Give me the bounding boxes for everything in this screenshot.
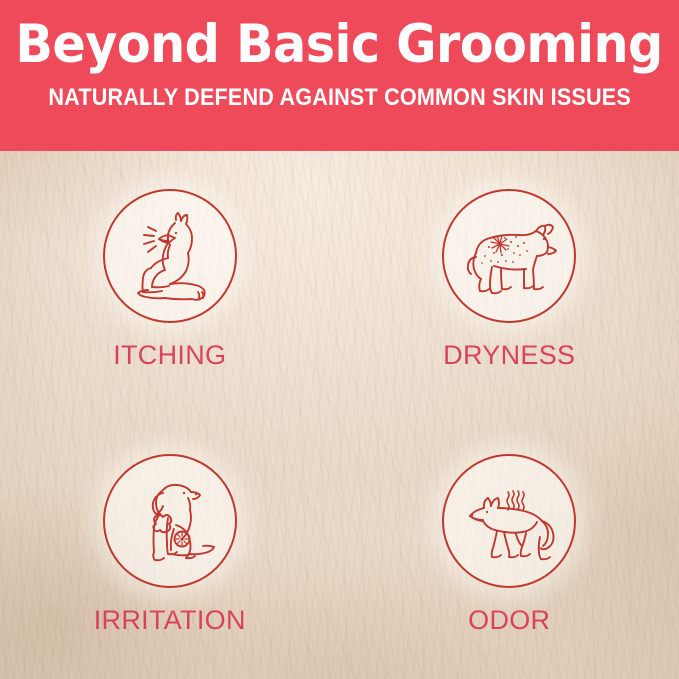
- benefit-item-itching[interactable]: ITCHING: [0, 151, 340, 415]
- benefit-grid: ITCHING: [0, 151, 679, 679]
- benefit-icon-circle-odor: [442, 454, 576, 588]
- benefit-icon-circle-dryness: [442, 189, 576, 323]
- dog-scratching-icon: [118, 204, 222, 308]
- benefit-item-odor[interactable]: ODOR: [340, 415, 679, 679]
- dog-irritated-patches-icon: [118, 469, 222, 573]
- benefit-label-dryness: DRYNESS: [443, 340, 575, 371]
- dog-flaky-skin-icon: [456, 203, 562, 309]
- promo-poster: Beyond Basic Grooming NATURALLY DEFEND A…: [0, 0, 679, 679]
- benefit-icon-circle-itching: [103, 189, 237, 323]
- dog-odor-lines-icon: [456, 468, 562, 574]
- benefit-label-irritation: IRRITATION: [94, 605, 246, 636]
- benefit-item-irritation[interactable]: IRRITATION: [0, 415, 340, 679]
- page-subtitle: NATURALLY DEFEND AGAINST COMMON SKIN ISS…: [48, 84, 631, 112]
- page-title: Beyond Basic Grooming: [16, 18, 663, 72]
- benefit-label-odor: ODOR: [468, 605, 550, 636]
- benefit-item-dryness[interactable]: DRYNESS: [340, 151, 679, 415]
- header-banner: Beyond Basic Grooming NATURALLY DEFEND A…: [0, 0, 679, 151]
- benefit-icon-circle-irritation: [103, 454, 237, 588]
- benefit-label-itching: ITCHING: [113, 340, 226, 371]
